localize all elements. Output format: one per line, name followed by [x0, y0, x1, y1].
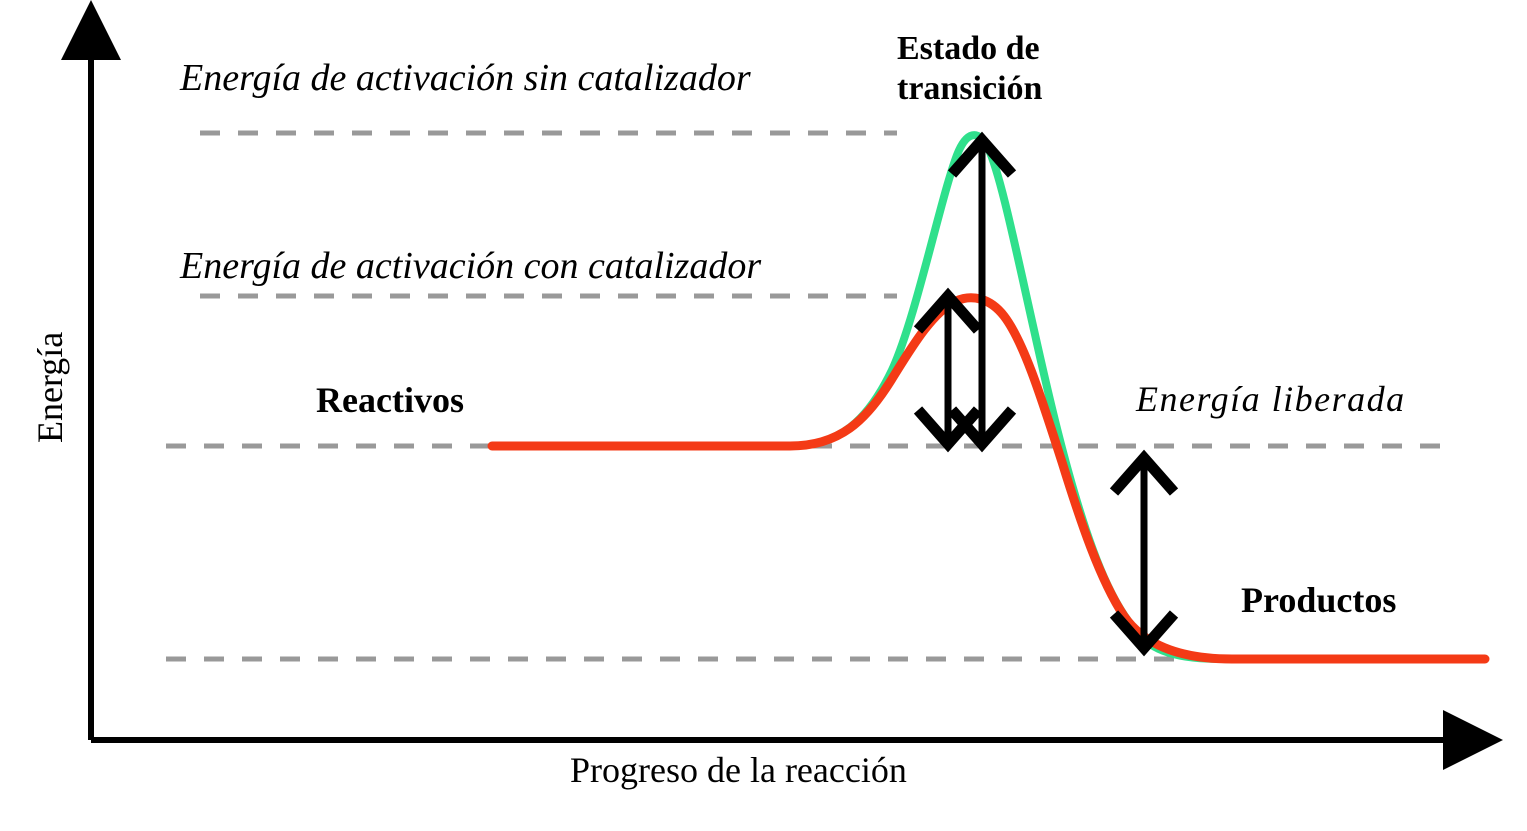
label-transition-state-line1: Estado de [897, 29, 1042, 69]
arrow-energy-released [1114, 458, 1174, 648]
label-transition-state-line2: transición [897, 69, 1042, 109]
label-products: Productos [1241, 580, 1396, 620]
label-transition-state: Estado de transición [897, 29, 1042, 109]
y-axis-label: Energía [30, 332, 70, 443]
energy-diagram-figure: Energía de activación sin catalizador En… [0, 0, 1527, 831]
x-axis-label: Progreso de la reacción [570, 750, 907, 790]
label-activation-energy-no-catalyst: Energía de activación sin catalizador [180, 57, 751, 100]
label-reactants: Reactivos [316, 380, 464, 420]
label-energy-released: Energía liberada [1136, 379, 1406, 419]
label-activation-energy-with-catalyst: Energía de activación con catalizador [180, 245, 761, 288]
